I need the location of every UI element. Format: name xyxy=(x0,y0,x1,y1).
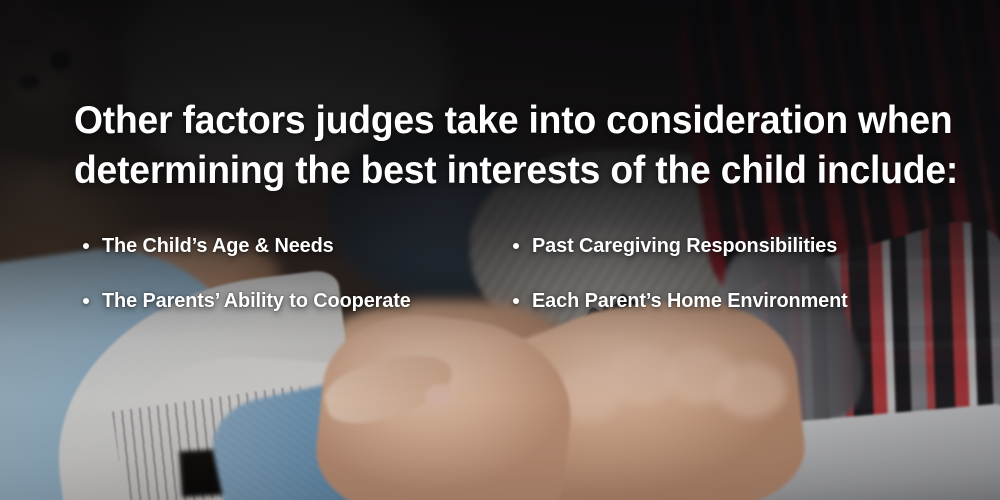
bullet-dot-icon xyxy=(83,298,89,304)
headline-line-1: Other factors judges take into considera… xyxy=(74,96,895,146)
bullet-dot-icon xyxy=(513,243,519,249)
list-item-label: The Parents’ Ability to Cooperate xyxy=(102,289,411,313)
infographic-banner: Other factors judges take into considera… xyxy=(0,0,1000,500)
list-item: The Parents’ Ability to Cooperate xyxy=(74,273,504,328)
headline-line-2: determining the best interests of the ch… xyxy=(74,146,895,196)
bullet-dot-icon xyxy=(513,298,519,304)
list-item-label: Each Parent’s Home Environment xyxy=(532,289,848,313)
list-item-label: The Child’s Age & Needs xyxy=(102,234,334,258)
list-item: Past Caregiving Responsibilities xyxy=(504,218,934,273)
factors-list: The Child’s Age & Needs Past Caregiving … xyxy=(74,218,954,328)
list-item: Each Parent’s Home Environment xyxy=(504,273,934,328)
bullet-dot-icon xyxy=(83,243,89,249)
list-item-label: Past Caregiving Responsibilities xyxy=(532,234,837,258)
banner-content: Other factors judges take into considera… xyxy=(0,0,1000,500)
page-title: Other factors judges take into considera… xyxy=(74,96,895,196)
list-item: The Child’s Age & Needs xyxy=(74,218,504,273)
